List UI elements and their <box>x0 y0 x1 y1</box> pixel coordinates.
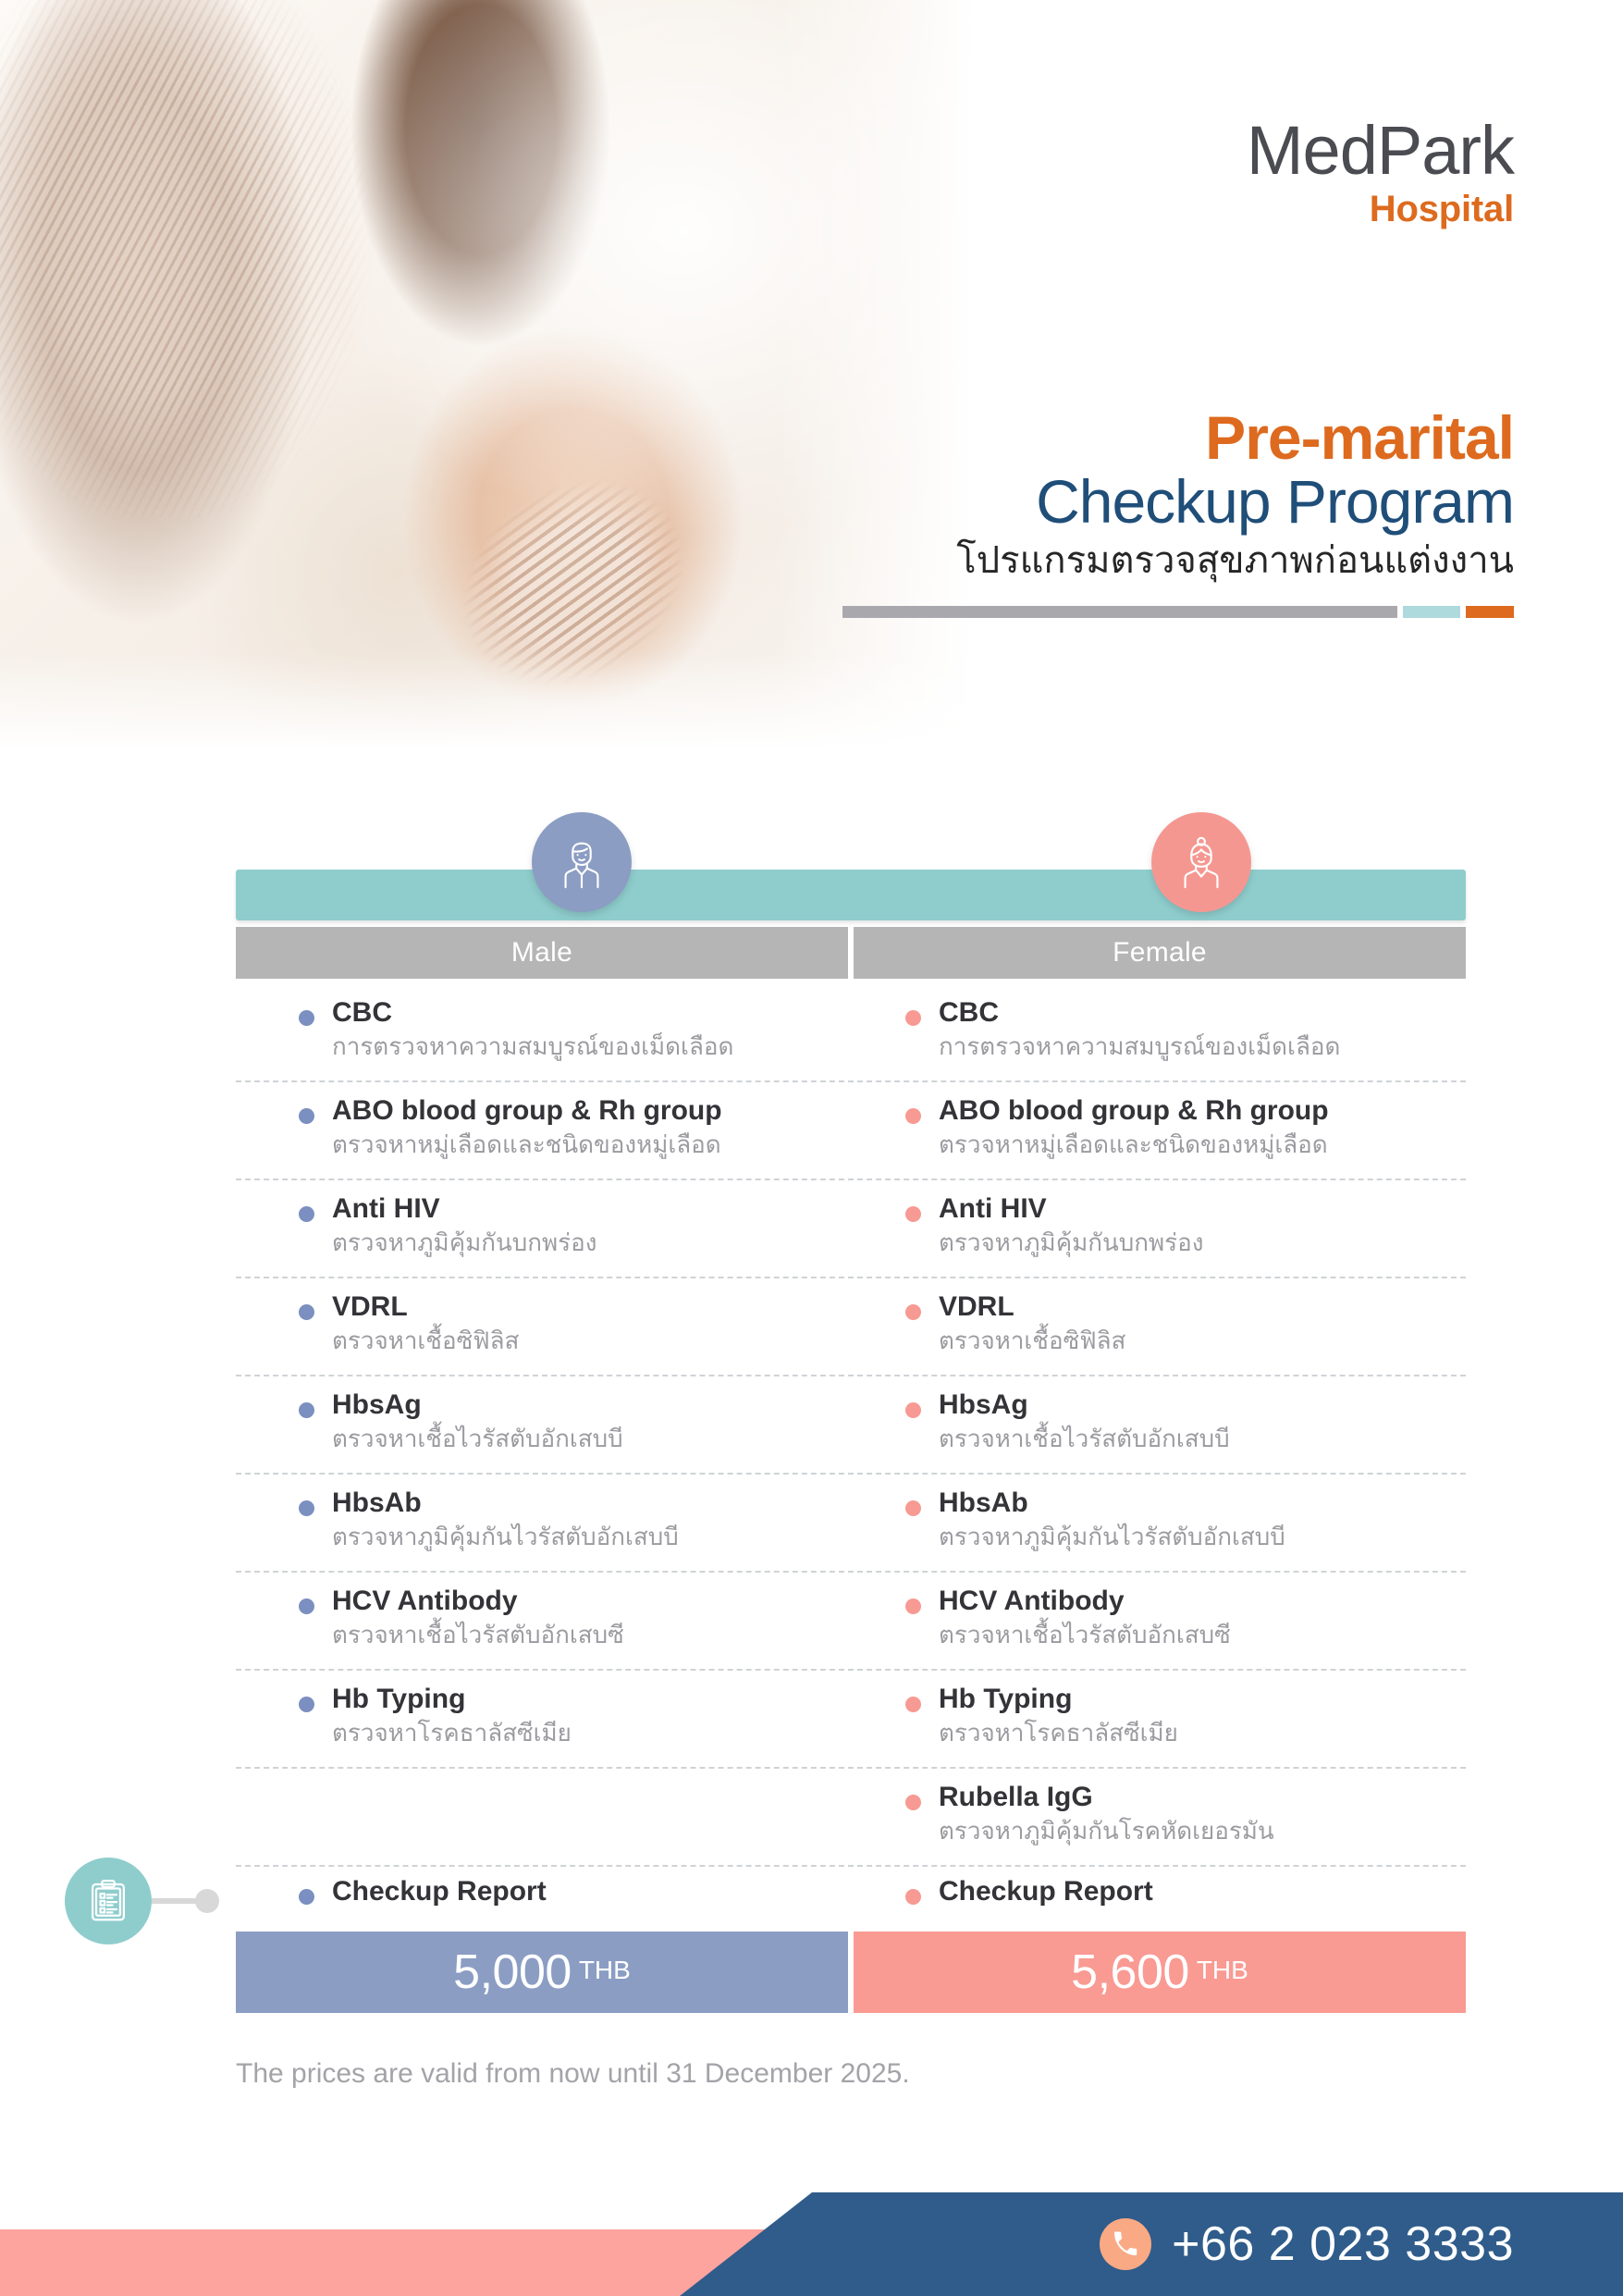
cell-male: VDRL ตรวจหาเชื้อซิฟิลิส <box>236 1278 859 1375</box>
brand-subtitle: Hospital <box>1247 189 1514 230</box>
item-name-en: VDRL <box>939 1291 1466 1323</box>
teal-banner <box>236 870 1466 920</box>
item-name-th: ตรวจหาเชื้อซิฟิลิส <box>332 1326 859 1357</box>
table-row: HbsAb ตรวจหาภูมิคุ้มกันไวรัสตับอักเสบบี … <box>236 1475 1466 1573</box>
cell-male: HbsAg ตรวจหาเชื้อไวรัสตับอักเสบบี <box>236 1376 859 1473</box>
phone-icon <box>1100 2218 1151 2270</box>
cell-female: Hb Typing ตรวจหาโรคธาลัสซีเมีย <box>859 1671 1466 1767</box>
divider-segment-teal <box>1403 606 1460 618</box>
title-thai-subtitle: โปรแกรมตรวจสุขภาพก่อนแต่งงาน <box>811 537 1514 584</box>
item-name-th: ตรวจหาโรคธาลัสซีเมีย <box>332 1718 859 1749</box>
cell-female: HbsAb ตรวจหาภูมิคุ้มกันไวรัสตับอักเสบบี <box>859 1475 1466 1571</box>
phone-number[interactable]: +66 2 023 3333 <box>1172 2216 1514 2272</box>
table-rows: CBC การตรวจหาความสมบูรณ์ของเม็ดเลือด CBC… <box>236 984 1466 1924</box>
clipboard-connector-line <box>152 1898 202 1904</box>
item-name-th: ตรวจหาภูมิคุ้มกันโรคหัดเยอรมัน <box>939 1816 1466 1847</box>
item-name-en: Hb Typing <box>939 1684 1466 1715</box>
item-name-en: HbsAb <box>939 1487 1466 1519</box>
cell-male: Hb Typing ตรวจหาโรคธาลัสซีเมีย <box>236 1671 859 1767</box>
cell-female: Checkup Report <box>859 1867 1466 1924</box>
title-line-checkup-program: Checkup Program <box>811 469 1514 535</box>
bullet-icon <box>905 1010 921 1026</box>
bullet-icon <box>299 1402 314 1418</box>
cell-male: CBC การตรวจหาความสมบูรณ์ของเม็ดเลือด <box>236 984 859 1080</box>
woman-icon <box>1173 833 1230 891</box>
price-male-amount: 5,000 <box>453 1944 572 2000</box>
phone-handset-icon <box>1111 2229 1140 2259</box>
table-row: CBC การตรวจหาความสมบูรณ์ของเม็ดเลือด CBC… <box>236 984 1466 1082</box>
price-male: 5,000 THB <box>236 1932 848 2013</box>
item-name-th: ตรวจหาเชื้อไวรัสตับอักเสบซี <box>939 1620 1466 1651</box>
bullet-icon <box>905 1206 921 1222</box>
bullet-icon <box>299 1206 314 1222</box>
bullet-icon <box>905 1889 921 1905</box>
item-name-th: ตรวจหาภูมิคุ้มกันบกพร่อง <box>332 1228 859 1259</box>
cell-female: VDRL ตรวจหาเชื้อซิฟิลิส <box>859 1278 1466 1375</box>
item-name-en: HbsAg <box>939 1389 1466 1421</box>
item-name-en: ABO blood group & Rh group <box>332 1095 859 1127</box>
item-name-en: Checkup Report <box>939 1876 1466 1907</box>
table-row-report: Checkup Report Checkup Report <box>236 1867 1466 1924</box>
item-name-en: HCV Antibody <box>332 1586 859 1617</box>
bullet-icon <box>905 1599 921 1614</box>
male-avatar <box>532 812 632 912</box>
item-name-th: ตรวจหาภูมิคุ้มกันไวรัสตับอักเสบบี <box>939 1522 1466 1553</box>
cell-male: ABO blood group & Rh group ตรวจหาหมู่เลื… <box>236 1082 859 1179</box>
item-name-th: ตรวจหาเชื้อซิฟิลิส <box>939 1326 1466 1357</box>
item-name-en: HbsAb <box>332 1487 859 1519</box>
table-row: Anti HIV ตรวจหาภูมิคุ้มกันบกพร่อง Anti H… <box>236 1180 1466 1278</box>
price-male-currency: THB <box>579 1956 631 1989</box>
price-female-amount: 5,600 <box>1071 1944 1189 2000</box>
bullet-icon <box>905 1795 921 1810</box>
item-name-en: Rubella IgG <box>939 1782 1466 1813</box>
cell-male: Anti HIV ตรวจหาภูมิคุ้มกันบกพร่อง <box>236 1180 859 1277</box>
footer-contact[interactable]: +66 2 023 3333 <box>1100 2192 1514 2296</box>
bullet-icon <box>299 1500 314 1516</box>
item-name-en: Anti HIV <box>332 1193 859 1225</box>
item-name-th: ตรวจหาหมู่เลือดและชนิดของหมู่เลือด <box>332 1129 859 1161</box>
item-name-th: การตรวจหาความสมบูรณ์ของเม็ดเลือด <box>332 1031 859 1063</box>
clipboard-icon <box>83 1876 133 1926</box>
cell-female: Anti HIV ตรวจหาภูมิคุ้มกันบกพร่อง <box>859 1180 1466 1277</box>
table-row: ABO blood group & Rh group ตรวจหาหมู่เลื… <box>236 1082 1466 1180</box>
bullet-icon <box>299 1697 314 1712</box>
man-icon <box>553 833 610 891</box>
item-name-th: ตรวจหาโรคธาลัสซีเมีย <box>939 1718 1466 1749</box>
cell-female: HbsAg ตรวจหาเชื้อไวรัสตับอักเสบบี <box>859 1376 1466 1473</box>
bullet-icon <box>905 1304 921 1320</box>
column-header-female: Female <box>854 927 1466 979</box>
divider-segment-orange <box>1466 606 1514 618</box>
cell-female: Rubella IgG ตรวจหาภูมิคุ้มกันโรคหัดเยอรม… <box>859 1769 1466 1865</box>
item-name-th: ตรวจหาภูมิคุ้มกันไวรัสตับอักเสบบี <box>332 1522 859 1553</box>
item-name-en: Hb Typing <box>332 1684 859 1715</box>
page-title: Pre-marital Checkup Program โปรแกรมตรวจส… <box>811 407 1514 618</box>
female-avatar <box>1151 812 1251 912</box>
item-name-th: ตรวจหาเชื้อไวรัสตับอักเสบบี <box>939 1424 1466 1455</box>
item-name-en: HCV Antibody <box>939 1586 1466 1617</box>
item-name-th: ตรวจหาภูมิคุ้มกันบกพร่อง <box>939 1228 1466 1259</box>
item-name-en: VDRL <box>332 1291 859 1323</box>
bullet-icon <box>299 1599 314 1614</box>
item-name-th: ตรวจหาเชื้อไวรัสตับอักเสบบี <box>332 1424 859 1455</box>
divider-segment-gray <box>842 606 1397 618</box>
item-name-en: Checkup Report <box>332 1876 859 1907</box>
validity-note: The prices are valid from now until 31 D… <box>236 2058 910 2090</box>
cell-female: ABO blood group & Rh group ตรวจหาหมู่เลื… <box>859 1082 1466 1179</box>
hero-image <box>0 0 1017 763</box>
item-name-th: ตรวจหาเชื้อไวรัสตับอักเสบซี <box>332 1620 859 1651</box>
item-name-en: CBC <box>332 997 859 1029</box>
item-name-th: การตรวจหาความสมบูรณ์ของเม็ดเลือด <box>939 1031 1466 1063</box>
bullet-icon <box>299 1010 314 1026</box>
cell-male: HCV Antibody ตรวจหาเชื้อไวรัสตับอักเสบซี <box>236 1573 859 1669</box>
hero-fade-right <box>777 0 1017 763</box>
title-line-premarital: Pre-marital <box>811 407 1514 469</box>
column-header-male: Male <box>236 927 848 979</box>
item-name-en: CBC <box>939 997 1466 1029</box>
hero-fade-bottom <box>0 652 1017 763</box>
bullet-icon <box>299 1304 314 1320</box>
brand-name: MedPark <box>1247 118 1514 183</box>
clipboard-badge <box>65 1858 152 1944</box>
table-row: VDRL ตรวจหาเชื้อซิฟิลิส VDRL ตรวจหาเชื้อ… <box>236 1278 1466 1376</box>
price-female-currency: THB <box>1197 1956 1248 1989</box>
price-female: 5,600 THB <box>854 1932 1466 2013</box>
table-row: HbsAg ตรวจหาเชื้อไวรัสตับอักเสบบี HbsAg … <box>236 1376 1466 1475</box>
item-name-en: Anti HIV <box>939 1193 1466 1225</box>
brand-name-park: Park <box>1377 112 1514 189</box>
price-bars: 5,000 THB 5,600 THB <box>236 1932 1466 2013</box>
cell-male: Checkup Report <box>236 1867 859 1924</box>
bullet-icon <box>905 1108 921 1124</box>
bullet-icon <box>299 1108 314 1124</box>
footer: +66 2 023 3333 <box>0 2192 1623 2296</box>
title-divider <box>811 606 1514 618</box>
cell-male-empty <box>236 1769 859 1865</box>
brand-name-med: Med <box>1247 112 1377 189</box>
bullet-icon <box>905 1402 921 1418</box>
cell-female: CBC การตรวจหาความสมบูรณ์ของเม็ดเลือด <box>859 984 1466 1080</box>
item-name-en: ABO blood group & Rh group <box>939 1095 1466 1127</box>
brand-logo: MedPark Hospital <box>1247 118 1514 230</box>
bullet-icon <box>905 1500 921 1516</box>
cell-male: HbsAb ตรวจหาภูมิคุ้มกันไวรัสตับอักเสบบี <box>236 1475 859 1571</box>
item-name-th: ตรวจหาหมู่เลือดและชนิดของหมู่เลือด <box>939 1129 1466 1161</box>
table-row: HCV Antibody ตรวจหาเชื้อไวรัสตับอักเสบซี… <box>236 1573 1466 1671</box>
cell-female: HCV Antibody ตรวจหาเชื้อไวรัสตับอักเสบซี <box>859 1573 1466 1669</box>
column-headers: Male Female <box>236 927 1466 979</box>
clipboard-connector-dot <box>195 1889 219 1913</box>
item-name-en: HbsAg <box>332 1389 859 1421</box>
table-row: Rubella IgG ตรวจหาภูมิคุ้มกันโรคหัดเยอรม… <box>236 1769 1466 1867</box>
table-row: Hb Typing ตรวจหาโรคธาลัสซีเมีย Hb Typing… <box>236 1671 1466 1769</box>
bullet-icon <box>299 1889 314 1905</box>
bullet-icon <box>905 1697 921 1712</box>
